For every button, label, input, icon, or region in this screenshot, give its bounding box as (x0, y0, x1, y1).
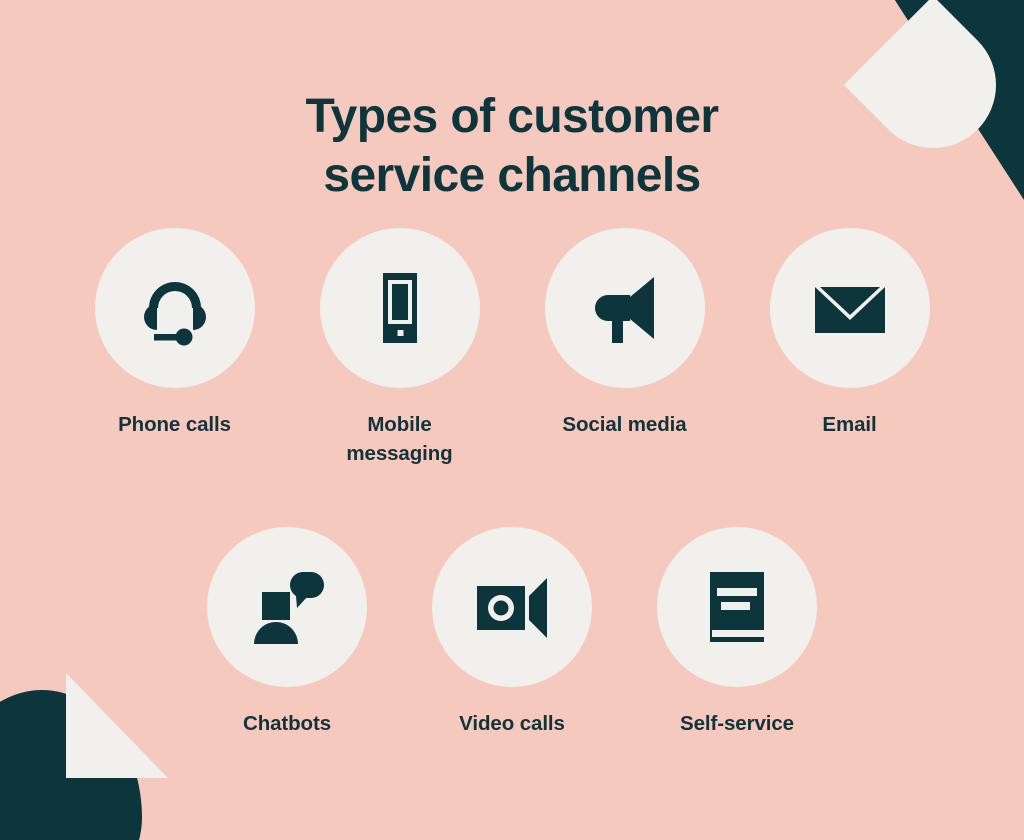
channel-item-phone-calls[interactable]: Phone calls (95, 228, 255, 439)
channel-item-self-service[interactable]: Self-service (657, 527, 817, 738)
person-speech-bubble-icon (244, 564, 330, 650)
channel-item-social-media[interactable]: Social media (545, 228, 705, 439)
icon-bubble (320, 228, 480, 388)
page-title: Types of customer service channels (0, 88, 1024, 205)
icon-bubble (545, 228, 705, 388)
channel-label: Chatbots (243, 709, 331, 738)
channel-row-1: Phone calls Mobile messaging (0, 228, 1024, 468)
channel-row-2: Chatbots Video calls (0, 527, 1024, 738)
channel-label: Video calls (459, 709, 565, 738)
icon-bubble (657, 527, 817, 687)
channel-label: Phone calls (118, 410, 231, 439)
channel-item-video-calls[interactable]: Video calls (432, 527, 592, 738)
book-icon (694, 564, 780, 650)
channel-label: Self-service (680, 709, 794, 738)
icon-bubble (432, 527, 592, 687)
video-camera-icon (469, 564, 555, 650)
channel-label: Social media (562, 410, 686, 439)
channel-label: Mobile messaging (346, 410, 452, 468)
channel-item-mobile-messaging[interactable]: Mobile messaging (320, 228, 480, 468)
channel-item-chatbots[interactable]: Chatbots (207, 527, 367, 738)
megaphone-icon (582, 265, 668, 351)
smartphone-icon (357, 265, 443, 351)
envelope-icon (807, 265, 893, 351)
channel-item-email[interactable]: Email (770, 228, 930, 439)
icon-bubble (95, 228, 255, 388)
channel-label: Email (822, 410, 876, 439)
icon-bubble (207, 527, 367, 687)
infographic-poster: Types of customer service channels Phone… (0, 0, 1024, 840)
icon-bubble (770, 228, 930, 388)
headset-icon (132, 265, 218, 351)
